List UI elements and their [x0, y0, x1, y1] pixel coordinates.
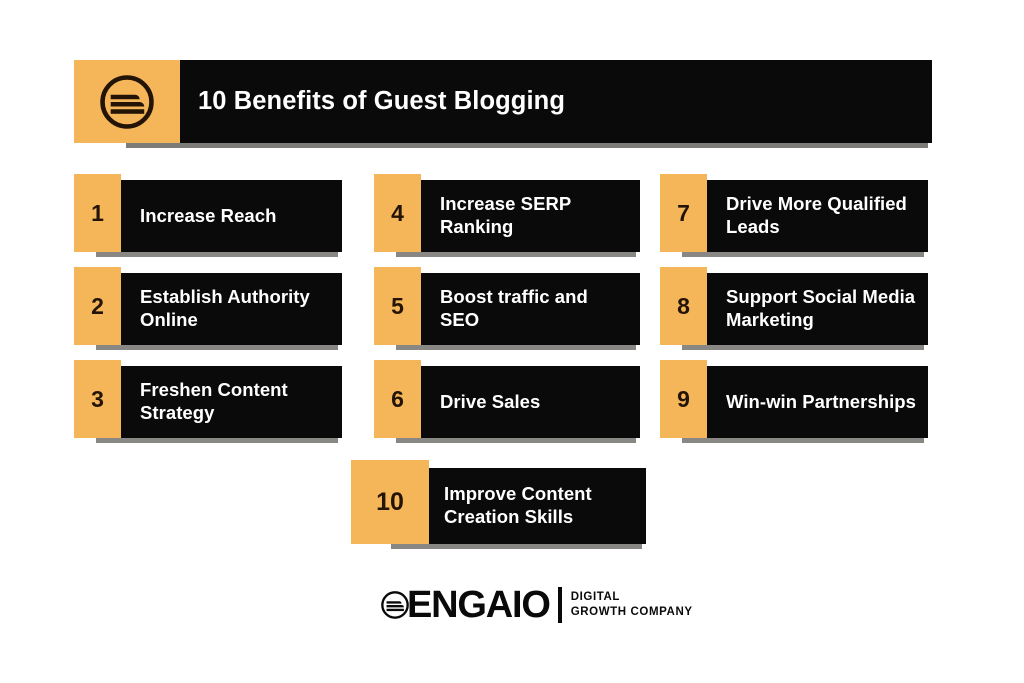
page-title: 10 Benefits of Guest Blogging	[198, 60, 565, 143]
benefit-number-tile: 1	[74, 174, 121, 252]
benefit-item-4[interactable]: 4 Increase SERP Ranking	[374, 174, 640, 252]
benefit-label: Freshen Content Strategy	[140, 366, 334, 438]
footer-tagline-line1: DIGITAL	[571, 592, 693, 604]
benefit-number: 4	[391, 202, 404, 225]
infographic-canvas: 10 Benefits of Guest Blogging 1 Increase…	[0, 0, 1024, 683]
benefit-number-tile: 9	[660, 360, 707, 438]
benefit-number-tile: 8	[660, 267, 707, 345]
engaio-circle-bars-icon	[98, 73, 156, 131]
engaio-circle-bars-icon	[380, 590, 410, 620]
benefit-label: Support Social Media Marketing	[726, 273, 920, 345]
benefit-number-tile: 10	[351, 460, 429, 544]
benefit-label: Drive Sales	[440, 366, 632, 438]
benefit-number-tile: 6	[374, 360, 421, 438]
header-logo-tile	[74, 60, 180, 143]
benefit-item-6[interactable]: 6 Drive Sales	[374, 360, 640, 438]
benefit-label: Boost traffic and SEO	[440, 273, 632, 345]
benefit-label: Increase SERP Ranking	[440, 180, 632, 252]
benefit-item-7[interactable]: 7 Drive More Qualified Leads	[660, 174, 928, 252]
benefit-item-2[interactable]: 2 Establish Authority Online	[74, 267, 342, 345]
footer-tagline: DIGITAL GROWTH COMPANY	[571, 592, 693, 618]
benefit-number: 5	[391, 295, 404, 318]
benefit-number-tile: 3	[74, 360, 121, 438]
benefit-number-tile: 4	[374, 174, 421, 252]
benefit-number: 7	[677, 202, 690, 225]
benefit-number: 8	[677, 295, 690, 318]
benefit-number: 6	[391, 388, 404, 411]
benefit-item-8[interactable]: 8 Support Social Media Marketing	[660, 267, 928, 345]
benefit-number: 1	[91, 202, 104, 225]
benefit-item-3[interactable]: 3 Freshen Content Strategy	[74, 360, 342, 438]
footer-divider	[558, 587, 562, 623]
benefit-label: Establish Authority Online	[140, 273, 334, 345]
benefit-label: Win-win Partnerships	[726, 366, 920, 438]
benefit-item-10[interactable]: 10 Improve Content Creation Skills	[351, 460, 646, 544]
benefit-number-tile: 5	[374, 267, 421, 345]
benefit-label: Increase Reach	[140, 180, 334, 252]
footer-brand: ENGAIO DIGITAL GROWTH COMPANY	[380, 583, 700, 627]
benefit-label: Improve Content Creation Skills	[444, 468, 638, 544]
benefit-number: 10	[376, 490, 404, 515]
benefit-number: 2	[91, 295, 104, 318]
benefit-number: 9	[677, 388, 690, 411]
benefit-label: Drive More Qualified Leads	[726, 180, 920, 252]
benefit-item-9[interactable]: 9 Win-win Partnerships	[660, 360, 928, 438]
benefit-item-1[interactable]: 1 Increase Reach	[74, 174, 342, 252]
benefit-number-tile: 2	[74, 267, 121, 345]
footer-wordmark: ENGAIO	[407, 586, 550, 624]
benefit-item-5[interactable]: 5 Boost traffic and SEO	[374, 267, 640, 345]
footer-tagline-line2: GROWTH COMPANY	[571, 607, 693, 619]
benefit-number: 3	[91, 388, 104, 411]
benefit-number-tile: 7	[660, 174, 707, 252]
